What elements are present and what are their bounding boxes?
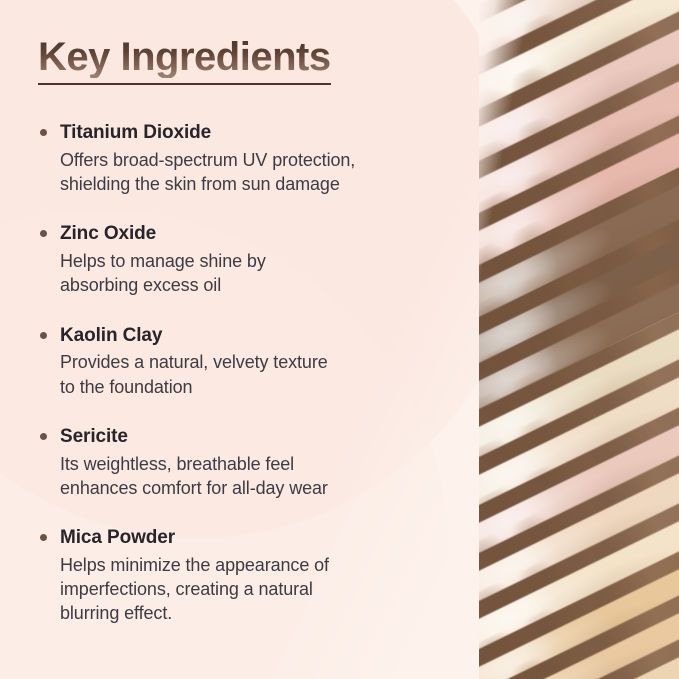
ingredient-description: Provides a natural, velvety texture to t… [60, 350, 458, 399]
ingredients-infographic: Key Ingredients Titanium DioxideOffers b… [0, 0, 679, 679]
content-column: Key Ingredients Titanium DioxideOffers b… [38, 36, 458, 626]
list-item: Titanium DioxideOffers broad-spectrum UV… [38, 121, 458, 196]
bullet-icon [40, 534, 47, 541]
ingredient-description: Offers broad-spectrum UV protection, shi… [60, 148, 458, 197]
powder-swatch-bands [479, 0, 679, 679]
bullet-icon [40, 433, 47, 440]
ingredients-list: Titanium DioxideOffers broad-spectrum UV… [38, 121, 458, 626]
list-item: Zinc OxideHelps to manage shine by absor… [38, 222, 458, 297]
bullet-icon [40, 332, 47, 339]
bullet-icon [40, 230, 47, 237]
ingredient-description: Helps to manage shine by absorbing exces… [60, 249, 458, 298]
list-item: SericiteIts weightless, breathable feel … [38, 425, 458, 500]
ingredient-name: Zinc Oxide [60, 222, 458, 247]
list-item: Mica PowderHelps minimize the appearance… [38, 526, 458, 626]
bullet-icon [40, 129, 47, 136]
ingredient-name: Sericite [60, 425, 458, 450]
page-title: Key Ingredients [38, 36, 331, 78]
page-title-underline: Key Ingredients [38, 36, 331, 85]
ingredient-name: Kaolin Clay [60, 324, 458, 349]
ingredient-name: Mica Powder [60, 526, 458, 551]
ingredient-description: Helps minimize the appearance of imperfe… [60, 553, 458, 626]
ingredient-description: Its weightless, breathable feel enhances… [60, 452, 458, 501]
powder-swatch-image [479, 0, 679, 679]
ingredient-name: Titanium Dioxide [60, 121, 458, 146]
list-item: Kaolin ClayProvides a natural, velvety t… [38, 324, 458, 399]
